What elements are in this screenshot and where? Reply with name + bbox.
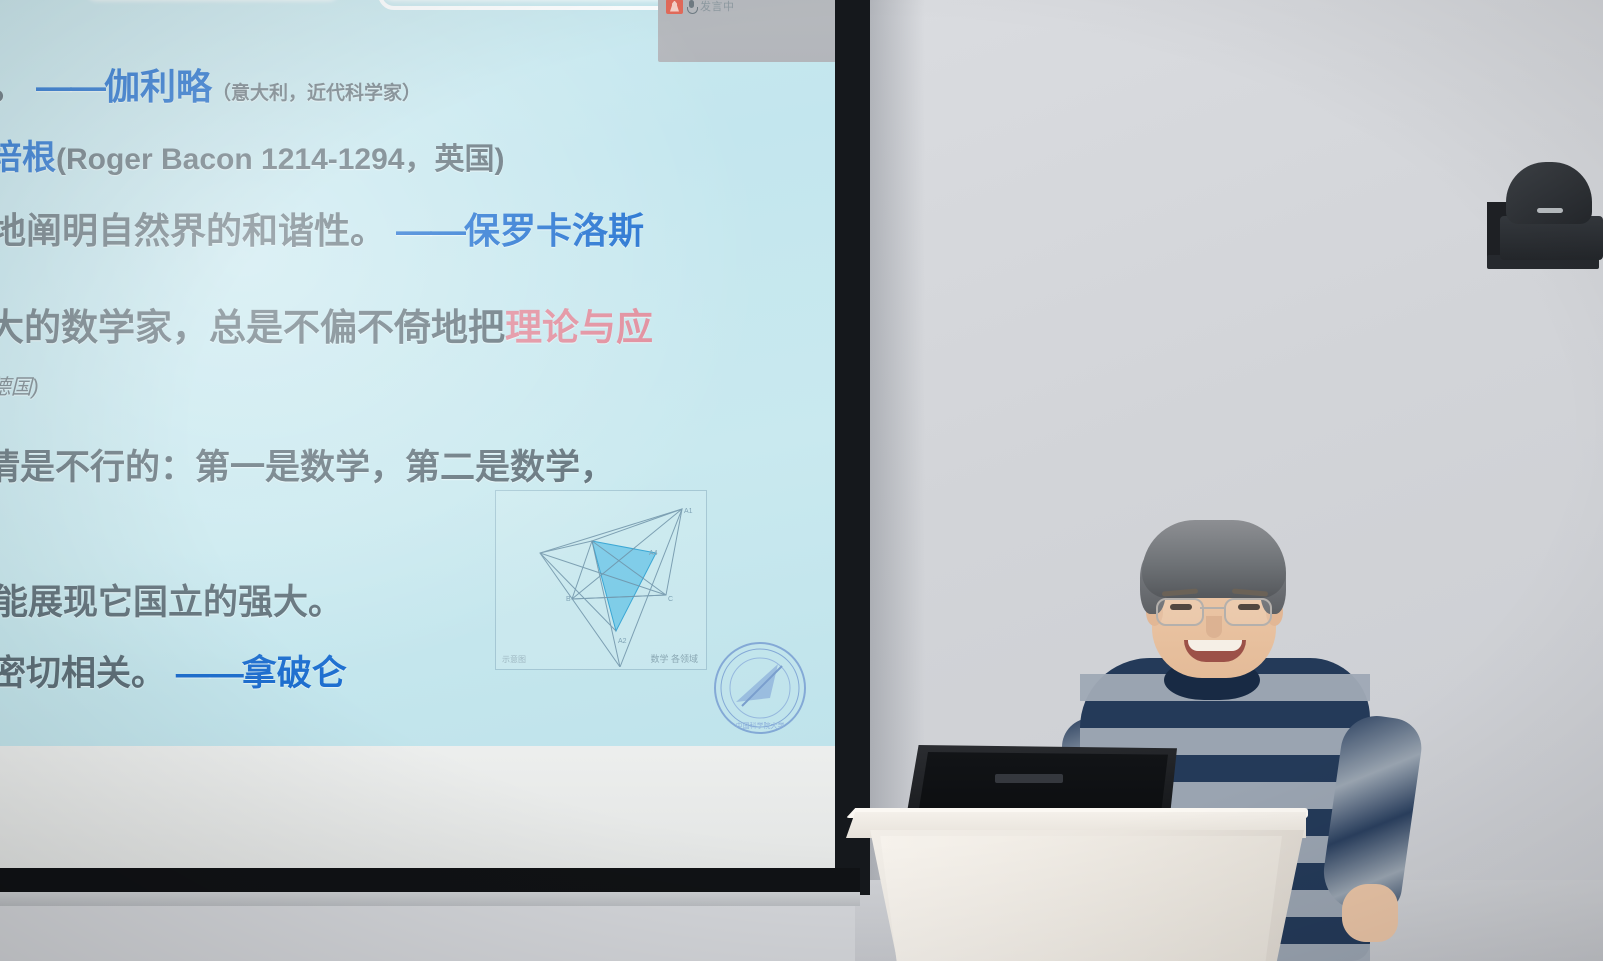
microphone-icon: [686, 0, 697, 14]
slide-line-napoleon-dash: ——: [176, 654, 242, 693]
slide-line-galileo-note: （意大利，近代科学家）: [212, 83, 421, 104]
seal-ring-text: 中国科学院大学: [736, 721, 785, 730]
university-seal-svg: 中国科学院大学: [712, 640, 808, 736]
camera-highlight: [1537, 208, 1563, 213]
screen-bottom-lip: [0, 892, 860, 906]
slide-line-klein-highlight: 理论与应: [505, 307, 653, 348]
svg-text:B: B: [566, 596, 571, 603]
slide-line-mathematics: 事情是不行的：第一是数学，第二是数学，: [0, 439, 615, 490]
presenter-hair: [1142, 520, 1286, 598]
slide-line-napoleon-lead: 盛密切相关。: [0, 654, 166, 693]
slide-line-bacon: —培根(Roger Bacon 1214-1294，英国): [0, 130, 504, 179]
slide-line-galileo: 的。 ——伽利略（意大利，近代科学家）: [0, 58, 421, 110]
laptop-screen-glare: [995, 774, 1063, 783]
projection-screen-frame: 的。 ——伽利略（意大利，近代科学家） —培根(Roger Bacon 1214…: [0, 0, 870, 895]
participant-name-bar: 发言中: [666, 0, 735, 14]
slide-line-galileo-lead: 的。: [0, 66, 26, 107]
slide-line-bacon-attribution: 培根: [0, 139, 56, 177]
slide-line-klein-source: ein, 德国): [0, 371, 39, 401]
slide-line-strength: 才能展现它国立的强大。: [0, 574, 343, 625]
tetrahedron-svg: A1 A4 C B A2: [496, 491, 704, 667]
slide-line-napoleon-attribution: 拿破仑: [242, 654, 347, 693]
screen-bottom-frame: [0, 868, 860, 894]
svg-text:A4: A4: [649, 550, 658, 557]
slide-line-klein: 伟大的数学家，总是不偏不倚地把理论与应: [0, 297, 653, 351]
slide-line-carus-lead: 新地阐明自然界的和谐性。: [0, 210, 386, 251]
slide-line-bacon-note: (Roger Bacon 1214-1294，英国): [56, 143, 504, 176]
svg-text:A2: A2: [618, 638, 627, 645]
svg-text:A1: A1: [684, 508, 693, 515]
projector-glow: [0, 0, 835, 746]
presentation-slide[interactable]: 的。 ——伽利略（意大利，近代科学家） —培根(Roger Bacon 1214…: [0, 0, 835, 746]
slide-line-napoleon: 盛密切相关。 ——拿破仑: [0, 645, 347, 696]
presenter-hand: [1342, 884, 1398, 942]
slide-line-galileo-attribution: 伽利略: [104, 66, 212, 107]
tetrahedron-caption-right: 数学 各领域: [650, 652, 698, 665]
slide-line-galileo-dash: ——: [36, 66, 104, 107]
slide-title-chip-outline: [378, 0, 686, 10]
slide-line-carus-dash: ——: [396, 210, 464, 251]
slide-line-carus-attribution: 保罗卡洛斯: [464, 210, 644, 251]
participant-label: 发言中: [700, 0, 735, 14]
svg-text:C: C: [668, 596, 673, 603]
slide-line-klein-text: 伟大的数学家，总是不偏不倚地把: [0, 307, 505, 348]
tetrahedron-diagram: A1 A4 C B A2 数学 各领域 示意图: [495, 490, 707, 670]
lectern-front-panel: [872, 836, 1282, 961]
slide-line-carus: 新地阐明自然界的和谐性。 ——保罗卡洛斯: [0, 202, 644, 254]
tetrahedron-caption-left: 示意图: [502, 654, 526, 665]
lecture-hall-photo: 的。 ——伽利略（意大利，近代科学家） —培根(Roger Bacon 1214…: [0, 0, 1603, 961]
university-seal-watermark: 中国科学院大学: [712, 640, 808, 736]
presenter-nose: [1206, 616, 1222, 638]
participant-icon: [666, 0, 683, 14]
video-conference-tile[interactable]: 发言中: [658, 0, 835, 62]
projection-screen-surface: 的。 ——伽利略（意大利，近代科学家） —培根(Roger Bacon 1214…: [0, 0, 835, 868]
